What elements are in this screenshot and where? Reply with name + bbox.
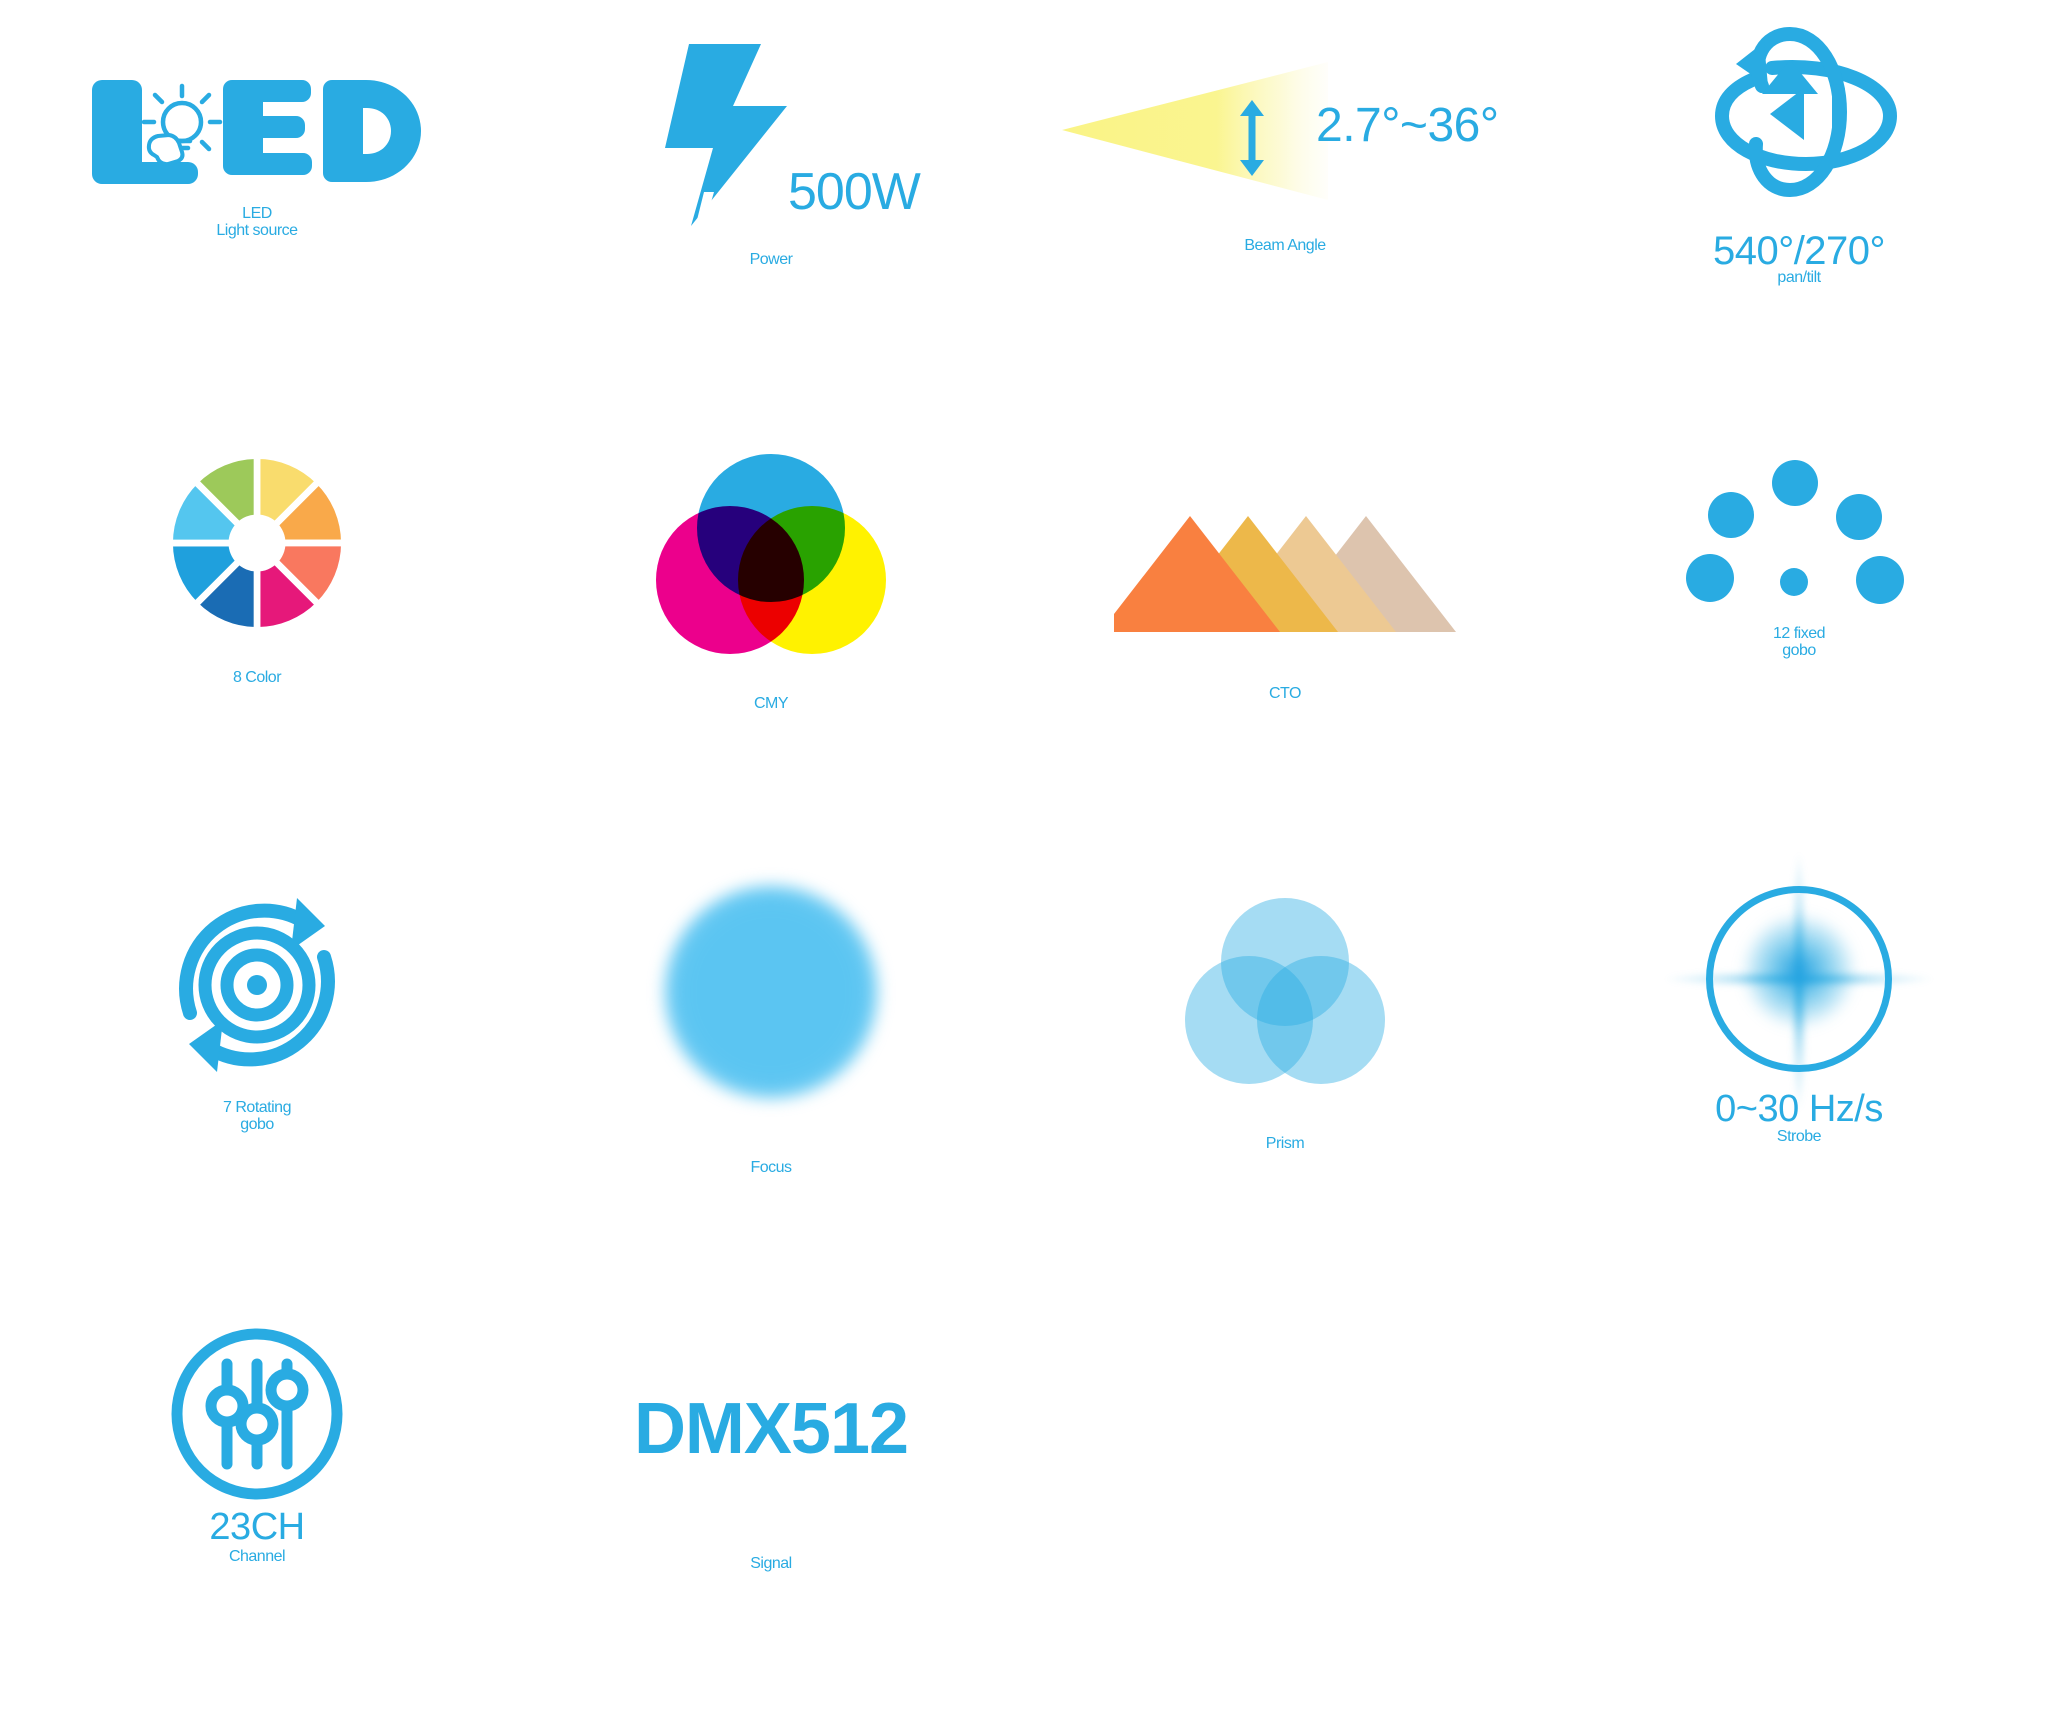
label-line-1: pan/tilt bbox=[1777, 270, 1820, 287]
beam-height-arrow-icon bbox=[1232, 100, 1272, 181]
cmy-yellow-circle bbox=[738, 506, 886, 654]
spec-item-light-source: LED Light source bbox=[0, 0, 514, 430]
label-line-2: gobo bbox=[223, 1117, 291, 1134]
label-line-1: LED bbox=[216, 206, 297, 223]
spec-item-pan-tilt: 540°/270° pan/tilt bbox=[1542, 0, 2056, 430]
label-line-1: 8 Color bbox=[233, 670, 281, 687]
label-line-2: gobo bbox=[1773, 643, 1825, 660]
spec-label-cto: CTO bbox=[1269, 686, 1301, 703]
strobe-core-glow bbox=[1745, 917, 1853, 1025]
beam-cone-icon bbox=[1060, 56, 1330, 211]
spec-label-beam-angle: Beam Angle bbox=[1244, 238, 1325, 255]
label-line-1: CTO bbox=[1269, 686, 1301, 703]
spec-item-channel: 23CH Channel bbox=[0, 1290, 514, 1729]
gobo-dot bbox=[1836, 494, 1882, 540]
spec-label-light-source: LED Light source bbox=[216, 206, 297, 240]
spec-label-fixed-gobo: 12 fixed gobo bbox=[1773, 626, 1825, 660]
focus-blur-icon bbox=[665, 886, 877, 1098]
spec-item-beam-angle: 2.7°~36° Beam Angle bbox=[1028, 0, 1542, 430]
spec-item-prism: Prism bbox=[1028, 860, 1542, 1290]
cmy-circles-icon bbox=[656, 454, 886, 654]
strobe-flare-icon bbox=[1684, 876, 1914, 1086]
spec-label-strobe: Strobe bbox=[1777, 1129, 1821, 1146]
prism-circles-icon bbox=[1185, 898, 1385, 1084]
gobo-dot bbox=[1772, 460, 1818, 506]
power-value: 500W bbox=[788, 162, 920, 222]
label-line-1: Channel bbox=[229, 1549, 285, 1566]
label-line-1: Prism bbox=[1266, 1136, 1304, 1153]
spec-label-prism: Prism bbox=[1266, 1136, 1304, 1153]
fader-sliders-icon bbox=[169, 1326, 345, 1502]
spec-item-signal: DMX512 Signal bbox=[514, 1290, 1028, 1729]
spec-grid: LED Light source 500W Power bbox=[0, 0, 2056, 1729]
channel-value: 23CH bbox=[209, 1506, 304, 1549]
spec-label-pan-tilt: pan/tilt bbox=[1777, 270, 1820, 287]
spec-label-color-wheel: 8 Color bbox=[233, 670, 281, 687]
label-line-2: Light source bbox=[216, 223, 297, 240]
spec-item-color-wheel: 8 Color bbox=[0, 430, 514, 860]
color-wheel-icon bbox=[162, 448, 352, 638]
spec-item-strobe: 0~30 Hz/s Strobe bbox=[1542, 860, 2056, 1290]
spec-label-signal: Signal bbox=[750, 1556, 791, 1573]
beam-angle-value: 2.7°~36° bbox=[1316, 98, 1499, 153]
gobo-dot bbox=[1856, 556, 1904, 604]
spec-label-cmy: CMY bbox=[754, 696, 788, 713]
gobo-dot bbox=[1708, 492, 1754, 538]
spec-item-power: 500W Power bbox=[514, 0, 1028, 430]
gobo-dots-icon bbox=[1684, 460, 1914, 600]
label-line-1: Beam Angle bbox=[1244, 238, 1325, 255]
prism-circle-right bbox=[1257, 956, 1385, 1084]
spec-item-cto: CTO bbox=[1028, 430, 1542, 860]
dmx-text-icon: DMX512 bbox=[634, 1388, 908, 1470]
spec-label-power: Power bbox=[750, 252, 793, 269]
spec-item-fixed-gobo: 12 fixed gobo bbox=[1542, 430, 2056, 860]
label-line-1: Power bbox=[750, 252, 793, 269]
spec-sheet: LED Light source 500W Power bbox=[0, 0, 2059, 1729]
gobo-dot bbox=[1686, 554, 1734, 602]
pan-tilt-value: 540°/270° bbox=[1713, 229, 1885, 274]
label-line-1: 12 fixed bbox=[1773, 626, 1825, 643]
spec-item-rotating-gobo: 7 Rotating gobo bbox=[0, 860, 514, 1290]
pan-tilt-rotation-icon bbox=[1694, 24, 1904, 219]
spec-item-cmy: CMY bbox=[514, 430, 1028, 860]
label-line-1: Strobe bbox=[1777, 1129, 1821, 1146]
spec-label-channel: Channel bbox=[229, 1549, 285, 1566]
gobo-dot bbox=[1780, 568, 1808, 596]
led-logo-icon bbox=[92, 74, 422, 192]
spec-label-focus: Focus bbox=[750, 1160, 791, 1177]
cto-triangles-icon bbox=[1114, 512, 1456, 634]
spec-item-focus: Focus bbox=[514, 860, 1028, 1290]
rotating-gobo-icon bbox=[157, 890, 357, 1080]
label-line-1: Signal bbox=[750, 1556, 791, 1573]
label-line-1: CMY bbox=[754, 696, 788, 713]
label-line-1: Focus bbox=[750, 1160, 791, 1177]
label-line-1: 7 Rotating bbox=[223, 1100, 291, 1117]
spec-label-rotating-gobo: 7 Rotating gobo bbox=[223, 1100, 291, 1134]
